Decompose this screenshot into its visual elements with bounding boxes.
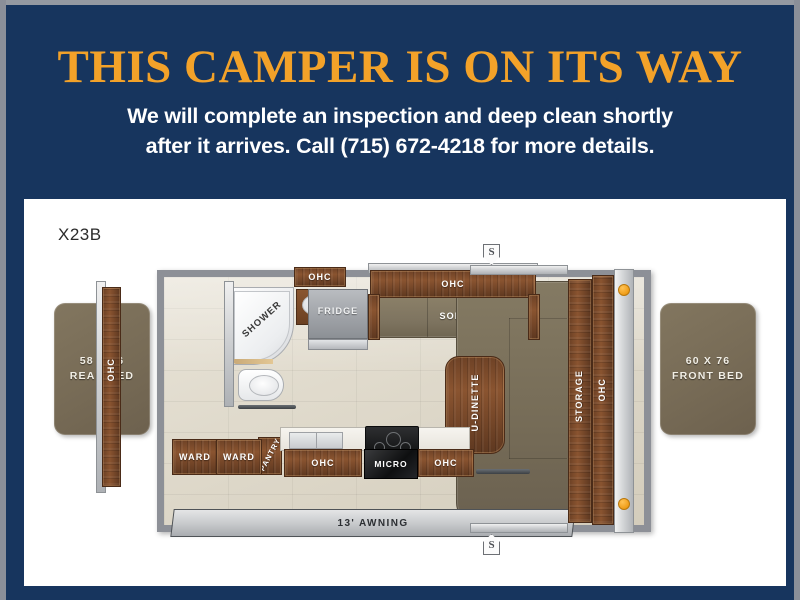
wardrobe-1-label: WARD [173, 452, 217, 462]
kitchen-sink [289, 432, 343, 449]
wardrobe-2: WARD [216, 439, 262, 475]
ohc-bathroom: OHC [294, 267, 346, 287]
u-dinette: U-DINETTE [456, 281, 570, 521]
ohc-front-vertical: OHC [592, 275, 614, 525]
front-bed-caption: 60 X 76 FRONT BED [660, 354, 756, 384]
toilet-seat [249, 375, 279, 396]
wardrobe-1: WARD [172, 439, 218, 475]
entry-grab-bar-icon [476, 469, 530, 474]
front-bed: 60 X 76 FRONT BED [660, 303, 756, 435]
slide-badge-bottom-letter: S [483, 539, 500, 551]
dinette-seam [509, 458, 567, 459]
slide-badge-bottom-icon: S [483, 534, 500, 555]
storage-label: STORAGE [574, 370, 586, 422]
sofa-arm-right [528, 294, 540, 340]
bathroom-grab-bar-icon [238, 405, 296, 409]
front-wall [614, 269, 634, 533]
screenshot-root: THIS CAMPER IS ON ITS WAY We will comple… [0, 0, 800, 600]
front-wall-fastener-bottom-icon [618, 498, 630, 510]
banner-subtitle-line1: We will complete an inspection and deep … [50, 101, 750, 131]
floorplan-card: X23B 58 X 76 REAR BED 60 X 76 FRONT BED [24, 199, 786, 586]
banner-title: THIS CAMPER IS ON ITS WAY [6, 41, 794, 93]
banner-subtitle: We will complete an inspection and deep … [50, 101, 750, 161]
micro-label: MICRO [365, 459, 417, 469]
fridge-label: FRIDGE [309, 306, 367, 316]
ohc-front-vertical-label: OHC [597, 378, 609, 401]
storage-cabinet: STORAGE [568, 279, 592, 523]
fridge-vent [308, 339, 368, 350]
toilet [238, 369, 284, 401]
ohc-left-vertical: OHC [102, 287, 121, 487]
window-right-edge [794, 0, 800, 600]
front-bed-size: 60 X 76 [660, 354, 756, 369]
banner-subtitle-line2: after it arrives. Call (715) 672-4218 fo… [50, 131, 750, 161]
dinette-slide-window-bottom [470, 523, 568, 533]
slide-badge-top-letter: S [483, 246, 500, 258]
ohc-top-label: OHC [371, 279, 535, 289]
wardrobe-2-label: WARD [217, 452, 261, 462]
banner-header: THIS CAMPER IS ON ITS WAY We will comple… [6, 5, 794, 197]
dinette-seam [509, 318, 510, 459]
ohc-bathroom-label: OHC [295, 272, 345, 282]
burner-icon [386, 432, 401, 447]
slide-badge-top-icon: S [483, 244, 500, 265]
front-bed-name: FRONT BED [660, 369, 756, 384]
kitchen-sink-divider [316, 433, 317, 448]
u-dinette-label: U-DINETTE [470, 374, 480, 432]
microwave: MICRO [364, 449, 418, 479]
floorplan-image: 58 X 76 REAR BED 60 X 76 FRONT BED OHC [52, 241, 758, 571]
ohc-kitchen-right: OHC [418, 449, 474, 477]
bathroom-wall [224, 281, 234, 407]
sofa-arm-left [368, 294, 380, 340]
refrigerator: FRIDGE [308, 289, 368, 339]
ohc-kitchen-left-label: OHC [285, 458, 361, 468]
ohc-left-vertical-label: OHC [106, 358, 117, 381]
front-wall-fastener-top-icon [618, 284, 630, 296]
ohc-kitchen-right-label: OHC [419, 458, 473, 468]
dinette-slide-window-top [470, 265, 568, 275]
shower-threshold [233, 359, 273, 364]
ohc-kitchen-left: OHC [284, 449, 362, 477]
kitchen-countertop [280, 427, 470, 451]
